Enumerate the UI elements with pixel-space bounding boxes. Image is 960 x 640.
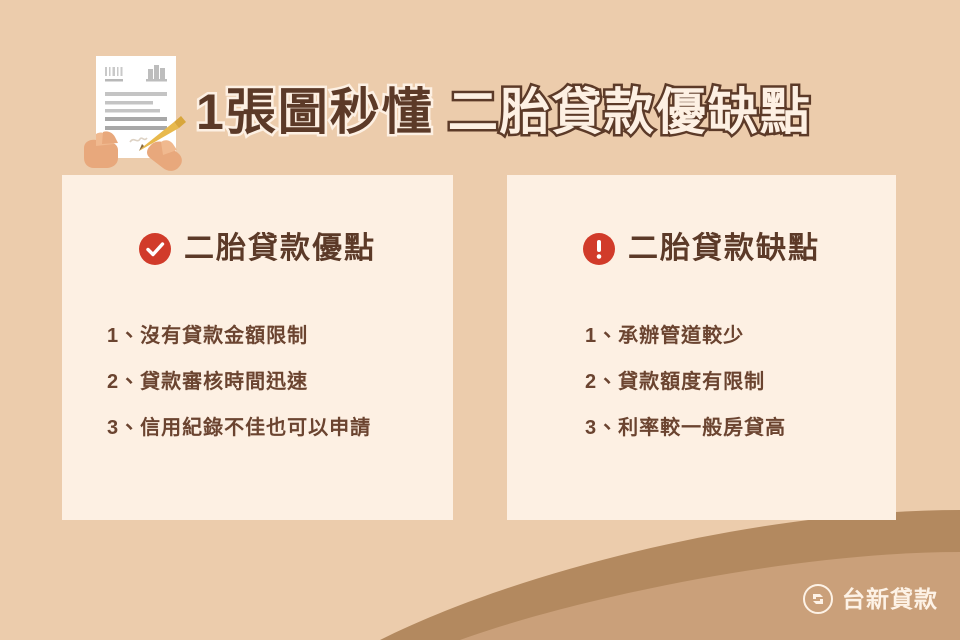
header: 1張圖秒懂 二胎貸款優缺點	[0, 0, 960, 175]
advantages-card-title: 二胎貸款優點	[184, 234, 376, 264]
list-item: 2、貸款額度有限制	[507, 359, 896, 405]
list-item: 1、承辦管道較少	[507, 313, 896, 359]
brand-logo: 台新貸款	[802, 583, 938, 615]
exclamation-circle-icon	[583, 233, 615, 265]
list-item: 2、貸款審核時間迅速	[62, 359, 453, 405]
check-circle-icon	[139, 233, 171, 265]
title-part-1: 1張圖秒懂	[196, 87, 434, 137]
disadvantages-card: 二胎貸款缺點 1、承辦管道較少 2、貸款額度有限制 3、利率較一般房貸高	[507, 175, 896, 520]
list-item: 1、沒有貸款金額限制	[62, 313, 453, 359]
list-item: 3、利率較一般房貸高	[507, 405, 896, 451]
advantages-card: 二胎貸款優點 1、沒有貸款金額限制 2、貸款審核時間迅速 3、信用紀錄不佳也可以…	[62, 175, 453, 520]
wave-dark-band	[380, 510, 960, 640]
right-hand	[147, 140, 182, 171]
advantages-card-header: 二胎貸款優點	[62, 233, 453, 265]
disadvantages-card-title: 二胎貸款缺點	[628, 234, 820, 264]
document-signing-illustration	[82, 52, 190, 172]
disadvantages-card-header: 二胎貸款缺點	[507, 233, 896, 265]
left-hand	[84, 131, 118, 168]
title-part-2: 二胎貸款優缺點	[448, 87, 812, 137]
disadvantages-list: 1、承辦管道較少 2、貸款額度有限制 3、利率較一般房貸高	[507, 313, 896, 451]
brand-logo-text: 台新貸款	[842, 588, 938, 611]
infographic-canvas: 1張圖秒懂 二胎貸款優缺點 二胎貸款優點 1、沒有貸款金額限制 2、貸款審核時間…	[0, 0, 960, 640]
advantages-list: 1、沒有貸款金額限制 2、貸款審核時間迅速 3、信用紀錄不佳也可以申請	[62, 313, 453, 451]
taishin-logo-icon	[802, 583, 834, 615]
list-item: 3、信用紀錄不佳也可以申請	[62, 405, 453, 451]
page-title: 1張圖秒懂 二胎貸款優缺點	[196, 76, 936, 148]
